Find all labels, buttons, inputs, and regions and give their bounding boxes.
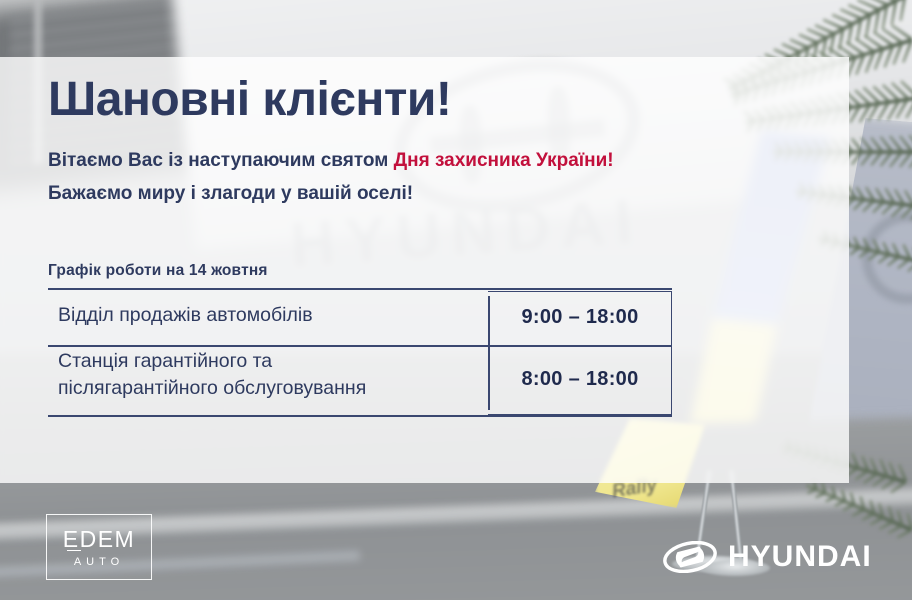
- promo-banner: HYUNDAI Rally Шановні клієнти! Вітаємо В…: [0, 0, 912, 600]
- table-rule-bottom: [48, 415, 672, 417]
- table-rule-top: [48, 288, 672, 290]
- hyundai-emblem-icon: [663, 541, 717, 573]
- content-area: Шановні клієнти! Вітаємо Вас із наступаю…: [0, 57, 849, 483]
- schedule-title: Графік роботи на 14 жовтня: [48, 262, 268, 280]
- hyundai-logo: HYUNDAI: [663, 540, 872, 574]
- headline: Шановні клієнти!: [48, 76, 451, 124]
- edem-auto-logo: EDEM AUTO: [46, 514, 152, 580]
- greeting-line-2: Бажаємо миру і злагоди у вашій оселі!: [48, 183, 413, 205]
- greeting-line-1: Вітаємо Вас із наступаючим святом Дня за…: [48, 150, 614, 172]
- hyundai-wordmark: HYUNDAI: [728, 540, 872, 574]
- table-row-label-sales: Відділ продажів автомобілів: [58, 302, 313, 329]
- edem-logo-sub: AUTO: [47, 556, 151, 568]
- table-row-label-service: Станція гарантійного тапіслягарантійного…: [58, 348, 366, 402]
- table-row-hours-sales: 9:00 – 18:00: [488, 306, 672, 329]
- greeting-line-1-prefix: Вітаємо Вас із наступаючим святом: [48, 150, 394, 171]
- greeting-line-1-accent: Дня захисника України!: [394, 150, 614, 171]
- table-row-hours-service: 8:00 – 18:00: [488, 368, 672, 391]
- edem-logo-name: EDEM: [47, 526, 151, 553]
